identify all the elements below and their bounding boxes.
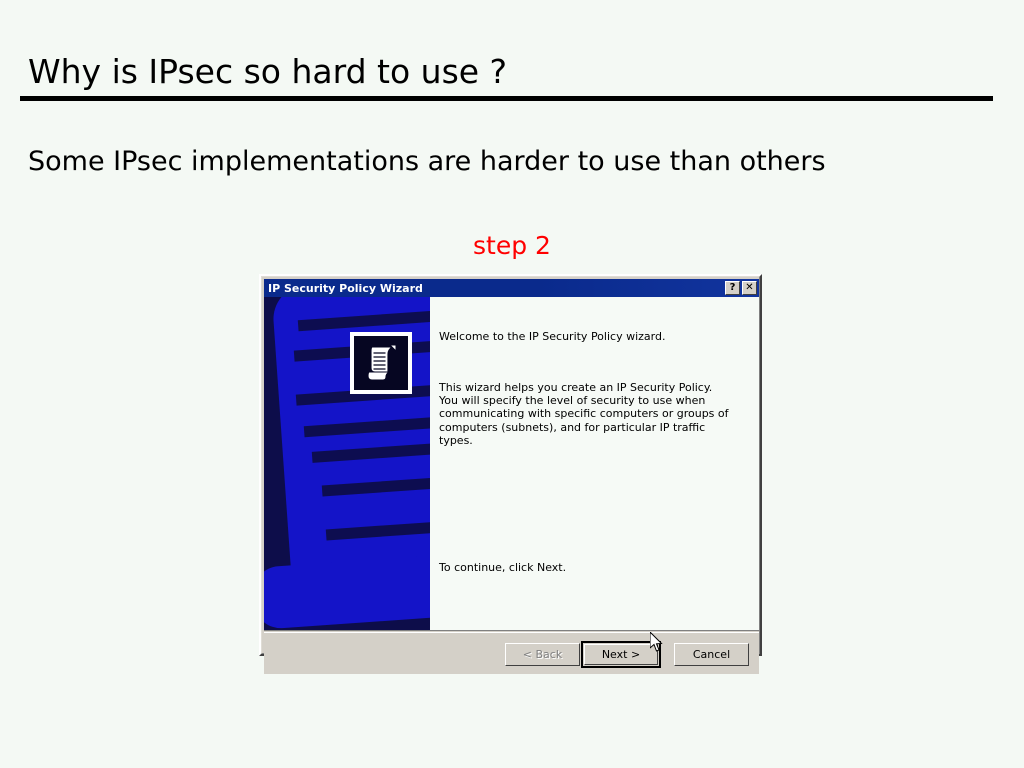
wizard-continue-text: To continue, click Next. [439, 561, 566, 575]
dialog-button-group: < Back Next > Cancel [505, 641, 749, 668]
scroll-document-icon [350, 332, 412, 394]
slide-subtitle: Some IPsec implementations are harder to… [28, 145, 826, 179]
dialog-button-bar: < Back Next > Cancel [264, 632, 759, 674]
dialog-title-bar[interactable]: IP Security Policy Wizard ? ✕ [264, 279, 759, 297]
page-title: Why is IPsec so hard to use ? [28, 52, 507, 92]
wizard-content-pane: Welcome to the IP Security Policy wizard… [430, 297, 759, 630]
next-button[interactable]: Next > [584, 644, 658, 665]
step-label: step 2 [0, 231, 1024, 261]
dialog-title-text: IP Security Policy Wizard [264, 282, 423, 295]
banner-document-shape-lower [264, 554, 430, 630]
next-button-default-frame[interactable]: Next > [581, 641, 661, 668]
title-underline-rule [20, 96, 993, 101]
wizard-banner-graphic [264, 297, 430, 630]
dialog-client-area: Welcome to the IP Security Policy wizard… [264, 297, 759, 631]
close-icon[interactable]: ✕ [742, 281, 757, 295]
help-icon[interactable]: ? [725, 281, 740, 295]
wizard-welcome-heading: Welcome to the IP Security Policy wizard… [439, 330, 665, 344]
wizard-body-text: This wizard helps you create an IP Secur… [439, 381, 733, 447]
back-button[interactable]: < Back [505, 643, 580, 666]
caption-button-group: ? ✕ [725, 281, 757, 295]
cancel-button[interactable]: Cancel [674, 643, 749, 666]
ip-security-policy-wizard-dialog[interactable]: IP Security Policy Wizard ? ✕ [259, 274, 762, 656]
dialog-inner-bevel: IP Security Policy Wizard ? ✕ [261, 276, 760, 654]
